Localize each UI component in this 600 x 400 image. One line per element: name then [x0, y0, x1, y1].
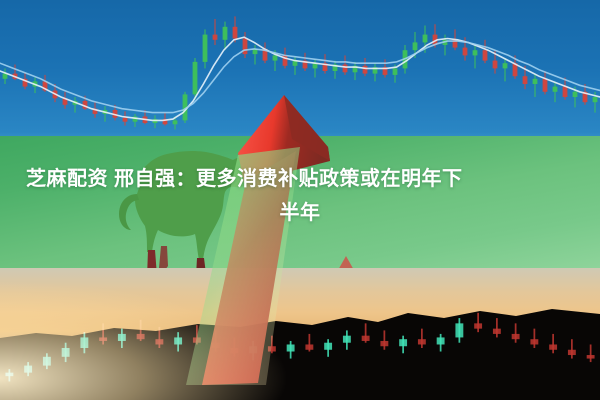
caption-line-2: 半年 — [16, 196, 584, 230]
thumbnail-image: 芝麻配资 邢自强：更多消费补贴政策或在明年下 半年 — [0, 0, 600, 400]
caption-line-1: 芝麻配资 邢自强：更多消费补贴政策或在明年下 — [16, 162, 584, 196]
red-up-arrow — [180, 95, 480, 385]
headline-caption: 芝麻配资 邢自强：更多消费补贴政策或在明年下 半年 — [0, 162, 600, 230]
arrow-svg — [180, 95, 480, 385]
